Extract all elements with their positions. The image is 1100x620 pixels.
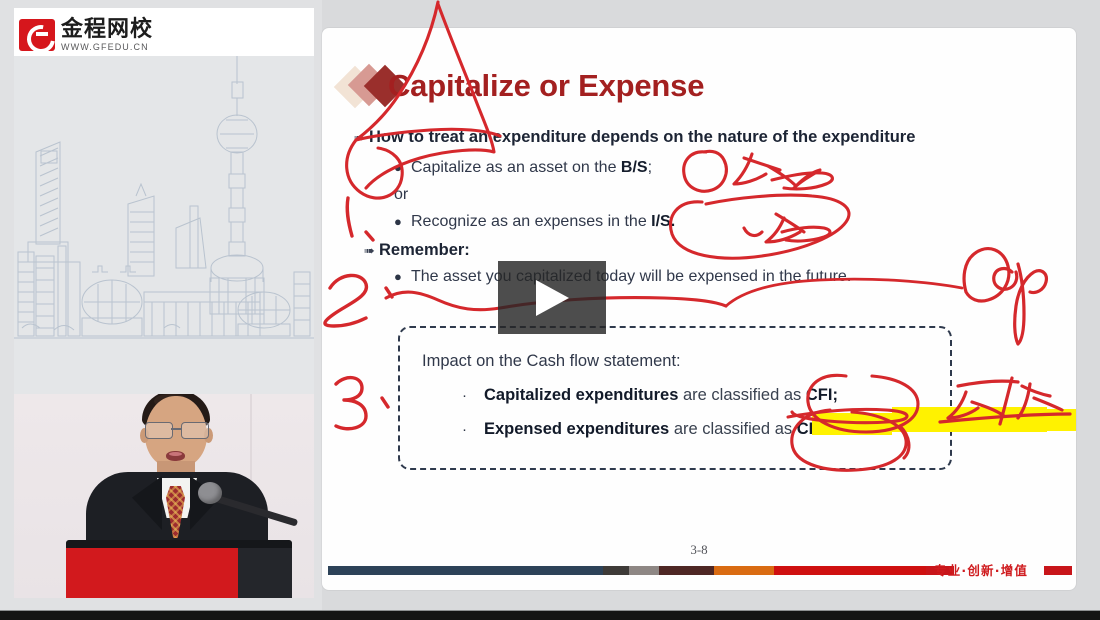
microphone-icon: [198, 482, 222, 504]
footer-seg-charcoal: [603, 566, 629, 575]
podium-top-edge: [66, 540, 292, 548]
lecture-slide: Capitalize or Expense ➠How to treat an e…: [322, 28, 1076, 590]
slide-body: ➠How to treat an expenditure depends on …: [322, 28, 1076, 590]
brand-website: WWW.GFEDU.CN: [61, 43, 153, 52]
bullet-recognize-expense: ●Recognize as an expenses in the I/S.: [394, 213, 675, 231]
gfedu-logo-icon: [19, 19, 55, 51]
presenter-glasses: [145, 422, 209, 437]
footer-seg-maroon: [659, 566, 714, 575]
footer-seg-gray: [629, 566, 659, 575]
cash-flow-callout-box: Impact on the Cash flow statement: ·Capi…: [398, 326, 952, 470]
presenter-video-frame: 金程网校 WWW.GFEDU.CN: [14, 8, 314, 598]
highlight-stroke-1: [812, 413, 892, 435]
bullet-capitalize-asset: ●Capitalize as an asset on the B/S;: [394, 159, 652, 177]
tagline-block-right: [1044, 566, 1072, 575]
bullet-level1-how-to-treat: ➠How to treat an expenditure depends on …: [354, 128, 915, 147]
round-bullet-icon: ●: [394, 269, 411, 284]
highlight-stroke-2: [892, 407, 1047, 432]
callout-lead-text: Impact on the Cash flow statement:: [422, 352, 681, 371]
presenter-scene: [14, 394, 314, 598]
arrow-bullet-icon: ➠: [354, 130, 369, 146]
video-player-root: 金程网校 WWW.GFEDU.CN Capitalize or Expense …: [0, 0, 1100, 620]
bullet-or: or: [394, 186, 408, 204]
shanghai-skyline-backdrop: [14, 56, 314, 408]
highlight-stroke-3: [1047, 409, 1076, 431]
presenter-video-panel: 金程网校 WWW.GFEDU.CN: [0, 0, 322, 611]
brand-name: 金程网校: [61, 19, 153, 41]
callout-item-capitalized: ·Capitalized expenditures are classified…: [462, 386, 838, 405]
player-bottom-bar: [0, 611, 1100, 620]
bullet-asset-expensed-future: ●The asset you capitalized today will be…: [394, 268, 851, 286]
round-bullet-icon: ●: [394, 214, 411, 229]
footer-seg-navy: [328, 566, 603, 575]
slide-page-number: 3-8: [322, 542, 1076, 558]
podium-front-panel: [66, 547, 238, 598]
play-button[interactable]: [498, 261, 606, 334]
footer-seg-red: [774, 566, 928, 575]
footer-color-bar: [328, 566, 928, 575]
arrow-bullet-icon: ➠: [364, 243, 379, 259]
play-triangle-icon: [536, 280, 569, 316]
callout-item-expensed: ·Expensed expenditures are classified as…: [462, 420, 836, 439]
footer-tagline: 专业·创新·增值: [934, 560, 1028, 579]
footer-seg-orange: [714, 566, 774, 575]
round-bullet-icon: ●: [394, 160, 411, 175]
presenter-mouth: [166, 451, 185, 461]
bullet-level1-remember: ➠Remember:: [364, 241, 470, 260]
dot-bullet-icon: ·: [462, 421, 484, 438]
brand-logo: 金程网校 WWW.GFEDU.CN: [19, 12, 189, 58]
dot-bullet-icon: ·: [462, 387, 484, 404]
